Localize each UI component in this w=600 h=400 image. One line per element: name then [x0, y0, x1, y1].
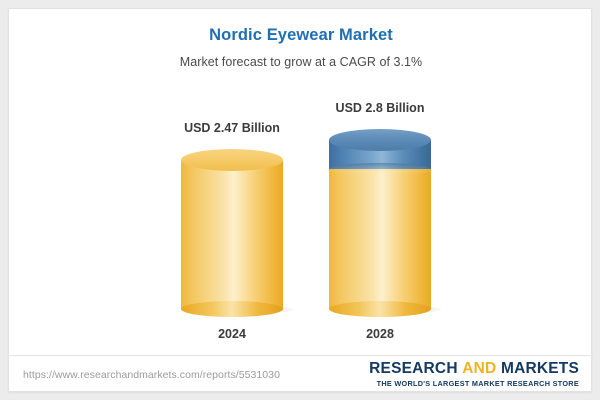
logo-wordmark: RESEARCH AND MARKETS — [369, 361, 579, 377]
logo-tagline: THE WORLD'S LARGEST MARKET RESEARCH STOR… — [369, 379, 579, 388]
cylinder-bottom-cap-2024 — [181, 301, 283, 317]
cylinder-bottom-cap-2028 — [329, 301, 431, 317]
bar-group-2028[interactable]: USD 2.8 Billion 2028 — [323, 9, 437, 353]
report-url-link[interactable]: https://www.researchandmarkets.com/repor… — [23, 369, 280, 381]
bar-group-2024[interactable]: USD 2.47 Billion 2024 — [175, 9, 289, 353]
cylinder-2028 — [329, 129, 431, 317]
logo-word-markets: MARKETS — [501, 360, 579, 377]
logo-word-and: AND — [462, 360, 496, 377]
bar-value-label-2028: USD 2.8 Billion — [280, 101, 480, 115]
cylinder-2024 — [181, 149, 283, 317]
bar-value-label-2024: USD 2.47 Billion — [132, 121, 332, 135]
cylinder-body-yellow-2024 — [181, 160, 283, 309]
brand-logo[interactable]: RESEARCH AND MARKETS THE WORLD'S LARGEST… — [369, 361, 579, 388]
cylinder-body-yellow-2028 — [329, 169, 431, 309]
logo-word-research: RESEARCH — [369, 360, 458, 377]
cylinder-segment-seam-2028 — [329, 163, 431, 176]
chart-card: Nordic Eyewear Market Market forecast to… — [8, 8, 592, 392]
category-label-2028: 2028 — [280, 327, 480, 341]
cylinder-top-cap-2028 — [329, 129, 431, 151]
chart-plot-area: USD 2.47 Billion 2024 USD 2.8 Billion — [9, 9, 593, 353]
cylinder-top-cap-2024 — [181, 149, 283, 171]
footer: https://www.researchandmarkets.com/repor… — [9, 356, 593, 392]
